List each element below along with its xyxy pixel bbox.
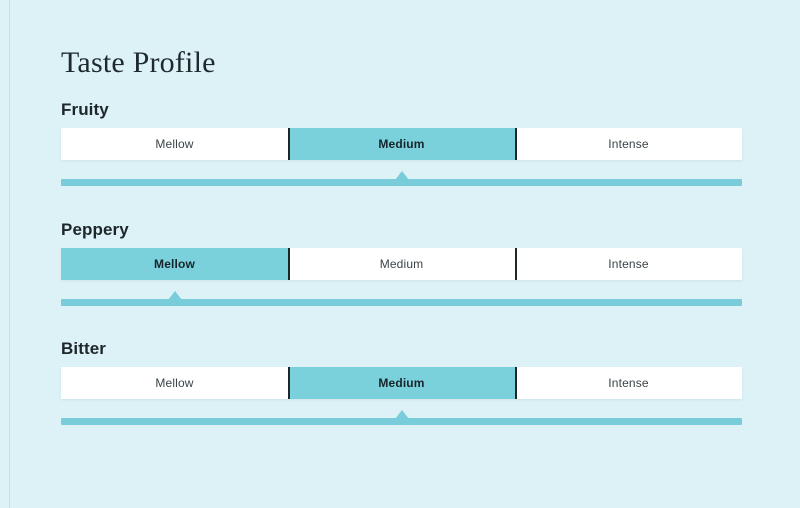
- slider-track[interactable]: [61, 418, 742, 425]
- rating-option-label: Intense: [608, 137, 648, 151]
- rating-option-label: Mellow: [155, 137, 193, 151]
- slider-track[interactable]: [61, 299, 742, 306]
- rating-option-label: Intense: [608, 257, 648, 271]
- rating-option-mellow[interactable]: Mellow: [61, 128, 288, 160]
- rating-option-label: Mellow: [155, 376, 193, 390]
- rating-option-label: Intense: [608, 376, 648, 390]
- rating-segment-group: MellowMediumIntense: [61, 248, 742, 280]
- rating-segment-group: MellowMediumIntense: [61, 128, 742, 160]
- attribute-name: Peppery: [61, 220, 129, 240]
- rating-option-medium[interactable]: Medium: [288, 128, 515, 160]
- slider-track[interactable]: [61, 179, 742, 186]
- slider-pointer-marker: [168, 291, 182, 300]
- rating-option-intense[interactable]: Intense: [515, 367, 742, 399]
- page-title: Taste Profile: [61, 46, 216, 80]
- rating-segment-group: MellowMediumIntense: [61, 367, 742, 399]
- rating-option-label: Medium: [378, 137, 424, 151]
- rating-option-label: Medium: [380, 257, 424, 271]
- rating-option-medium[interactable]: Medium: [288, 248, 515, 280]
- rating-option-label: Mellow: [154, 257, 195, 271]
- rating-option-intense[interactable]: Intense: [515, 248, 742, 280]
- rating-option-label: Medium: [378, 376, 424, 390]
- rating-option-mellow[interactable]: Mellow: [61, 367, 288, 399]
- slider-pointer-marker: [395, 171, 409, 180]
- rating-slider[interactable]: [61, 290, 742, 306]
- attribute-name: Fruity: [61, 100, 109, 120]
- rating-slider[interactable]: [61, 409, 742, 425]
- taste-profile-panel: Taste Profile FruityMellowMediumIntenseP…: [0, 0, 800, 508]
- slider-pointer-marker: [395, 410, 409, 419]
- rating-slider[interactable]: [61, 170, 742, 186]
- attribute-name: Bitter: [61, 339, 106, 359]
- rating-option-mellow[interactable]: Mellow: [61, 248, 288, 280]
- rating-option-medium[interactable]: Medium: [288, 367, 515, 399]
- rating-option-intense[interactable]: Intense: [515, 128, 742, 160]
